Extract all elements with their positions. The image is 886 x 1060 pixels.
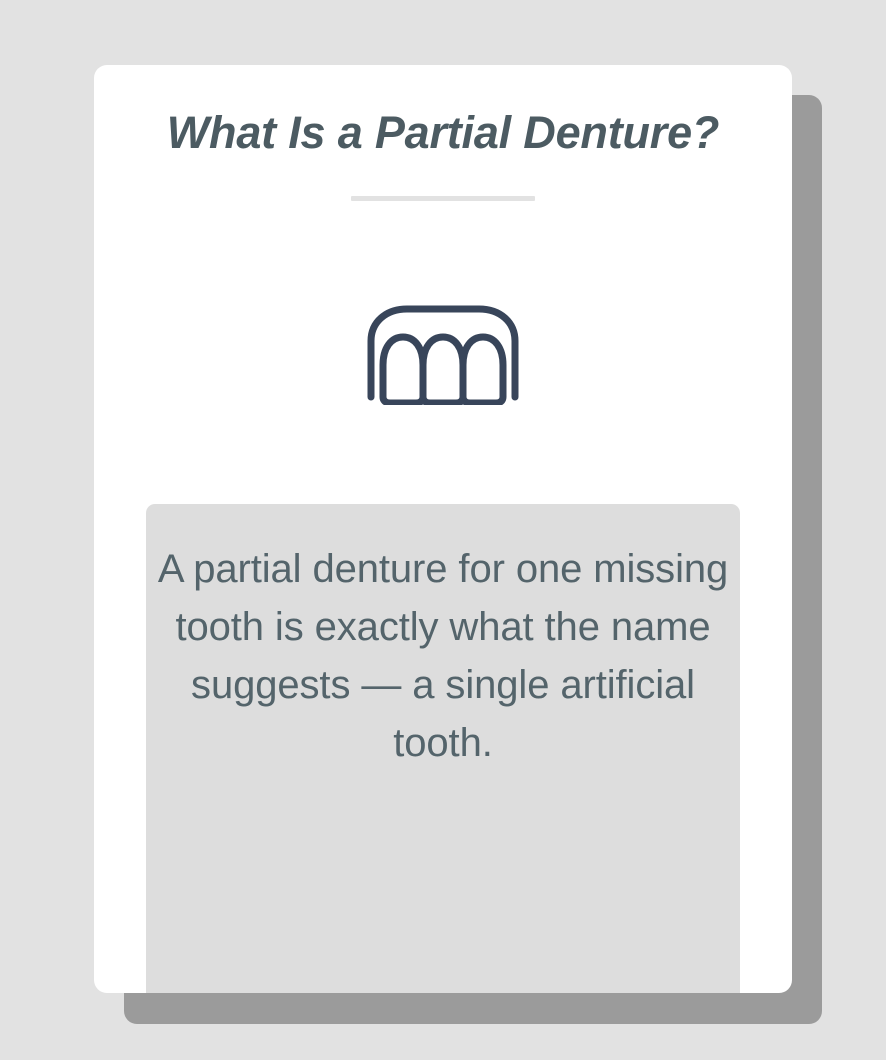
slide-stage: What Is a Partial Denture? A partial den…: [0, 0, 886, 1060]
partial-denture-icon: [363, 301, 523, 405]
page-title: What Is a Partial Denture?: [94, 105, 792, 161]
body-text-panel: A partial denture for one missing tooth …: [146, 504, 740, 993]
content-card: What Is a Partial Denture? A partial den…: [94, 65, 792, 993]
icon-container: [94, 293, 792, 413]
body-text: A partial denture for one missing tooth …: [156, 540, 730, 772]
title-divider: [351, 196, 535, 201]
